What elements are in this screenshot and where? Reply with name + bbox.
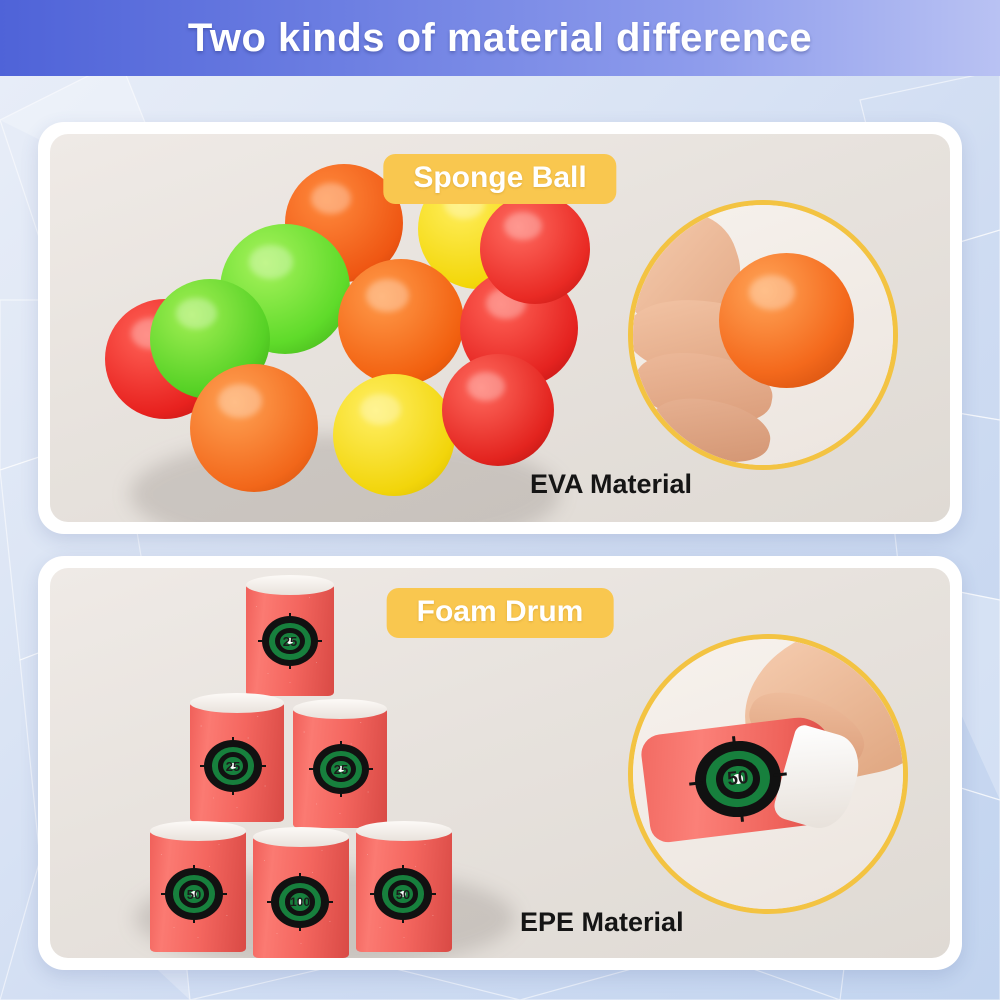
target-sticker: 50 (374, 868, 432, 920)
ball-yellow-bottom (333, 374, 455, 496)
drum-top-face (150, 821, 246, 841)
drum-bottom-right: 50 (356, 830, 452, 952)
sponge-ball-label: Sponge Ball (383, 154, 616, 204)
ball-orange-bottom-left (190, 364, 318, 492)
target-score: 50 (396, 887, 410, 902)
panel-foam-drum: 25 25 25 (38, 556, 962, 970)
sponge-ball-photo: Sponge Ball EVA Material (50, 134, 950, 522)
foam-drum-photo: 25 25 25 (50, 568, 950, 958)
target-score: 25 (226, 759, 240, 774)
drum-top-face (253, 827, 349, 847)
target-score: 100 (290, 895, 310, 909)
header-banner: Two kinds of material difference (0, 0, 1000, 76)
target-score: 25 (334, 762, 348, 777)
ball-red-bottom-right (442, 354, 554, 466)
ball-red-far-right (480, 194, 590, 304)
target-sticker: 25 (313, 744, 369, 794)
target-score: 50 (726, 767, 749, 791)
drum-top-face (356, 821, 452, 841)
drum-middle-right: 25 (293, 708, 387, 828)
drum-bottom-center: 100 (253, 836, 349, 958)
target-score: 25 (283, 634, 297, 649)
drum-bottom-left: 50 (150, 830, 246, 952)
drum-middle-left: 25 (190, 702, 284, 822)
page-title: Two kinds of material difference (188, 16, 812, 61)
eva-material-caption: EVA Material (530, 469, 692, 500)
drum-top-face (246, 575, 334, 595)
foam-drum-label: Foam Drum (387, 588, 614, 638)
target-sticker: 100 (271, 876, 329, 928)
epe-material-caption: EPE Material (520, 907, 684, 938)
target-sticker: 25 (262, 616, 318, 666)
target-sticker: 25 (204, 740, 262, 792)
foam-drum-closeup-ring: 50 (628, 634, 908, 914)
target-score: 50 (187, 887, 201, 902)
drum-top-face (190, 693, 284, 713)
ball-orange-center (338, 259, 464, 385)
drum-top-face (293, 699, 387, 719)
sponge-ball-closeup-ring (628, 200, 898, 470)
panel-sponge-ball: Sponge Ball EVA Material (38, 122, 962, 534)
drum-top: 25 (246, 584, 334, 696)
closeup-orange-ball (719, 253, 854, 388)
target-sticker: 50 (165, 868, 223, 920)
